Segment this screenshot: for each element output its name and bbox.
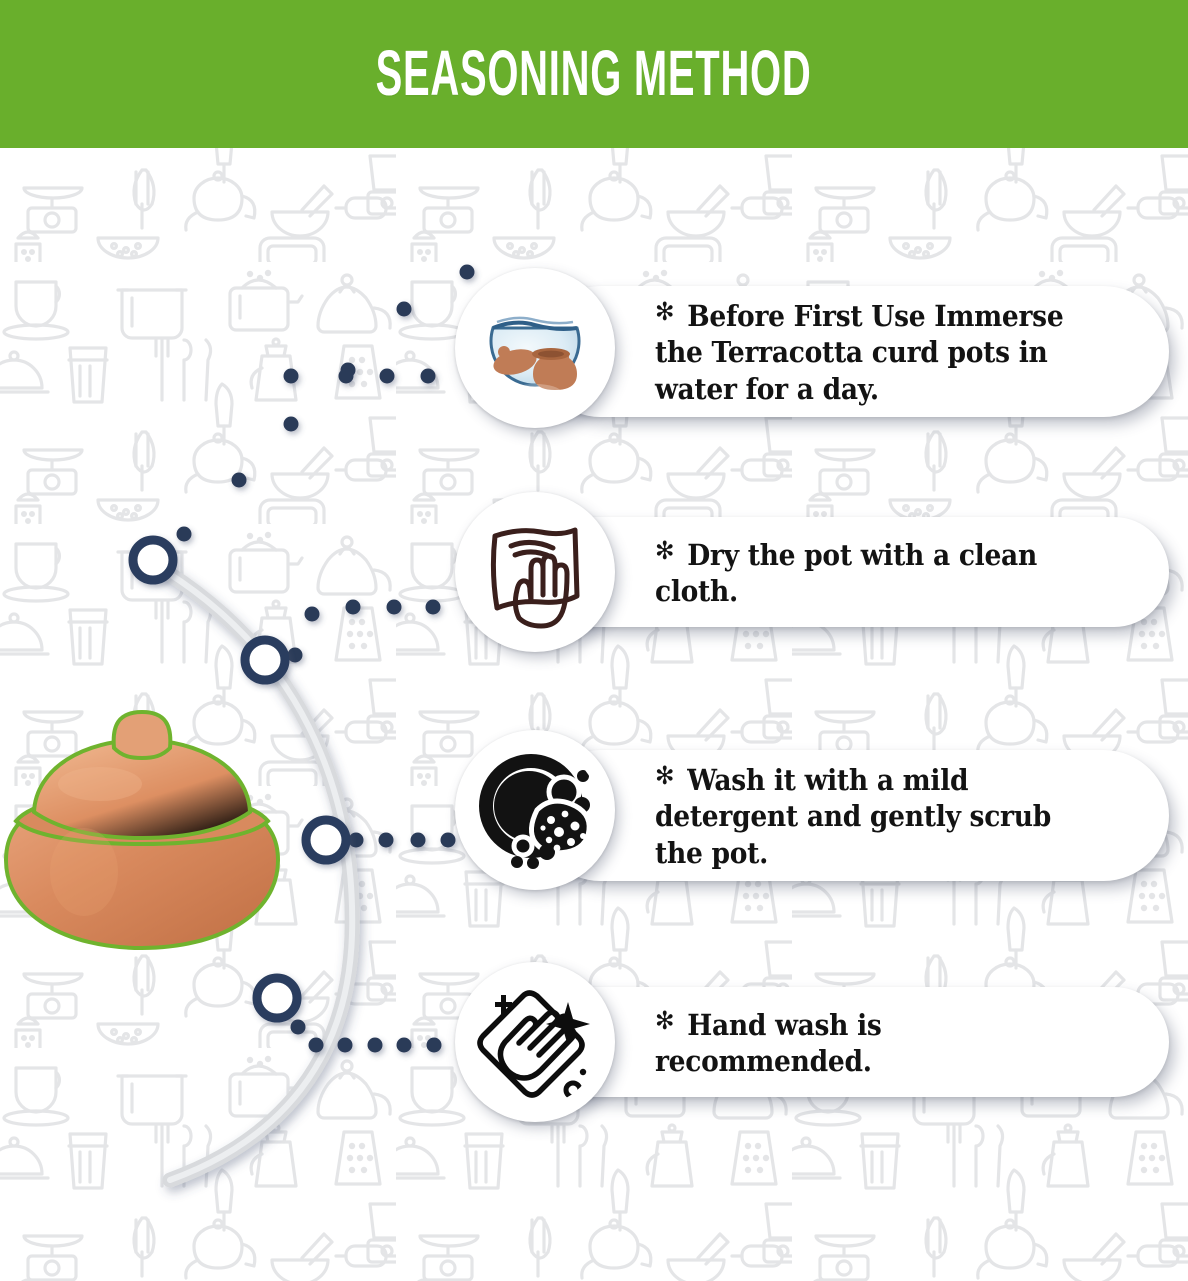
step-label-2: Dry the pot with a clean cloth.	[655, 538, 1037, 608]
dotted-path-4	[291, 1020, 442, 1053]
step-label-1: Before First Use Immerse the Terracotta …	[655, 299, 1063, 406]
arc-node-4	[257, 978, 297, 1018]
step-pill-4[interactable]: ✻Hand wash is recommended.	[535, 987, 1169, 1097]
step-text-1: ✻Before First Use Immerse the Terracotta…	[655, 296, 1096, 407]
step-icon-circle-3[interactable]	[455, 730, 615, 890]
arc-node-1	[133, 540, 173, 580]
step-label-3: Wash it with a mild detergent and gently…	[655, 763, 1051, 870]
step-text-3: ✻Wash it with a mild detergent and gentl…	[655, 760, 1096, 871]
step-row-2: ✻Dry the pot with a clean cloth.	[455, 492, 615, 652]
arc-node-3	[306, 820, 346, 860]
dotted-path-3	[349, 833, 456, 848]
step-label-4: Hand wash is recommended.	[655, 1008, 882, 1078]
step-pill-3[interactable]: ✻Wash it with a mild detergent and gentl…	[535, 750, 1169, 881]
plate-sponge-bubbles-icon	[471, 746, 599, 874]
step-row-1: ✻Before First Use Immerse the Terracotta…	[455, 268, 615, 428]
step-pill-1[interactable]: ✻Before First Use Immerse the Terracotta…	[535, 286, 1169, 417]
bullet-star-icon: ✻	[655, 297, 674, 326]
step-pill-2[interactable]: ✻Dry the pot with a clean cloth.	[535, 517, 1169, 627]
bullet-star-icon: ✻	[655, 536, 674, 565]
arc-node-2	[245, 640, 285, 680]
step-icon-circle-4[interactable]	[455, 962, 615, 1122]
dotted-path-1	[177, 265, 475, 542]
bullet-star-icon: ✻	[655, 1006, 674, 1035]
header-banner: SEASONING METHOD	[0, 0, 1188, 148]
dotted-path-2	[288, 600, 441, 663]
infographic-canvas: SEASONING METHOD	[0, 0, 1188, 1281]
step-icon-circle-2[interactable]	[455, 492, 615, 652]
step-icon-circle-1[interactable]	[455, 268, 615, 428]
terracotta-pot-image	[0, 690, 292, 960]
page-title: SEASONING METHOD	[376, 37, 812, 110]
hand-wiping-cloth-icon	[471, 508, 599, 636]
step-row-3: ✻Wash it with a mild detergent and gentl…	[455, 730, 615, 890]
step-text-4: ✻Hand wash is recommended.	[655, 1005, 1096, 1080]
step-row-4: ✻Hand wash is recommended.	[455, 962, 615, 1122]
hand-wash-sparkle-icon	[471, 978, 599, 1106]
bullet-star-icon: ✻	[655, 761, 674, 790]
step-text-2: ✻Dry the pot with a clean cloth.	[655, 535, 1096, 610]
pot-immersed-in-water-bowl-icon	[471, 284, 599, 412]
